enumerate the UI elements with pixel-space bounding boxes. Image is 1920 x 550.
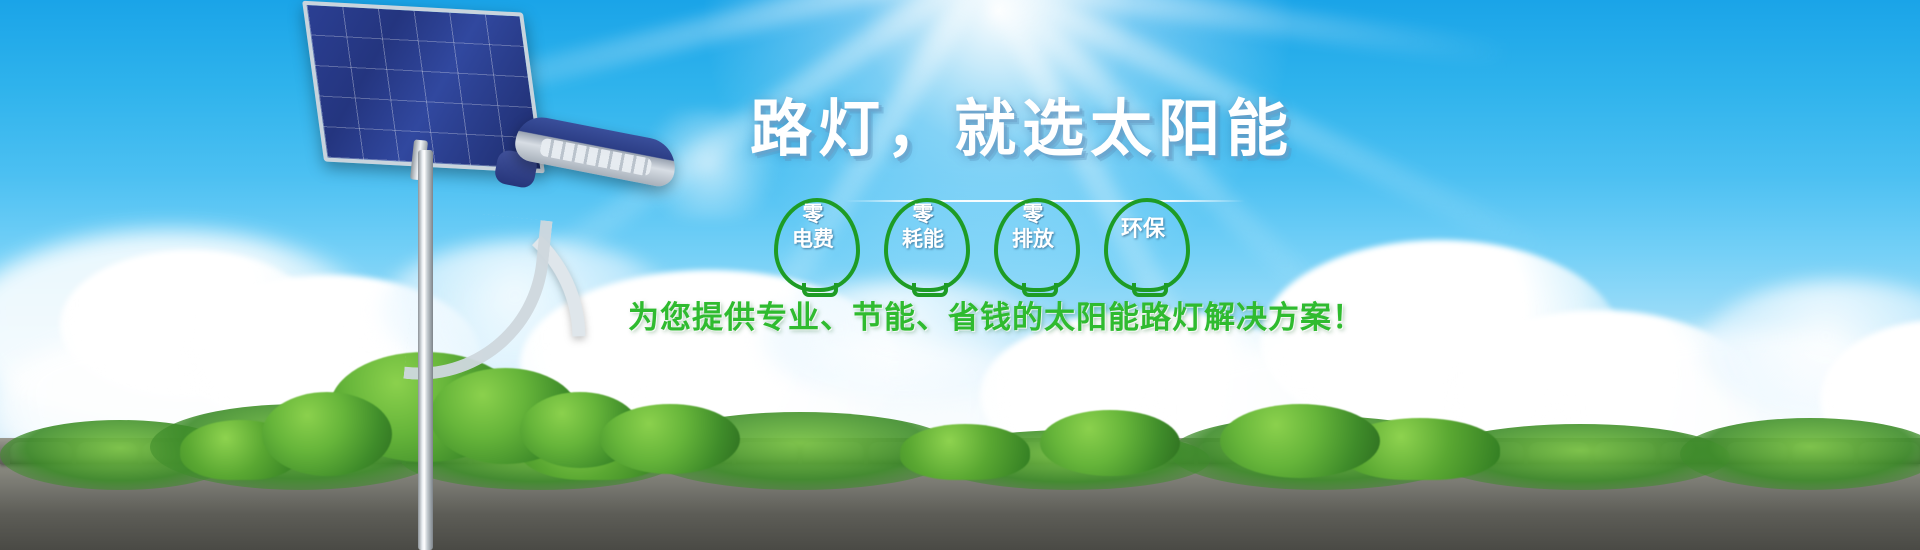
badge-prefix: 零 (770, 204, 856, 225)
feature-badge-row: 零 电费 零 耗能 零 排放 环保 (770, 198, 1210, 288)
badge-zero-emission: 零 排放 (990, 198, 1076, 286)
solar-streetlight-banner: 路灯，就选太阳能 零 电费 零 耗能 零 排放 环保 (0, 0, 1920, 550)
badge-label: 排放 (990, 228, 1076, 250)
badge-prefix: 零 (880, 204, 966, 225)
subtitle: 为您提供专业、节能、省钱的太阳能路灯解决方案！ (628, 292, 1364, 337)
badge-zero-energy-consumption: 零 耗能 (880, 198, 966, 286)
badge-label: 电费 (770, 228, 856, 250)
badge-label: 环保 (1100, 218, 1186, 241)
banner-content: 路灯，就选太阳能 零 电费 零 耗能 零 排放 环保 (0, 0, 1920, 550)
bulb-icon (1104, 198, 1190, 292)
badge-zero-electricity-cost: 零 电费 (770, 198, 856, 286)
badge-prefix: 零 (990, 204, 1076, 225)
badge-label: 耗能 (880, 228, 966, 250)
badge-environmental-protection: 环保 (1100, 198, 1186, 286)
headline: 路灯，就选太阳能 (750, 98, 1294, 160)
